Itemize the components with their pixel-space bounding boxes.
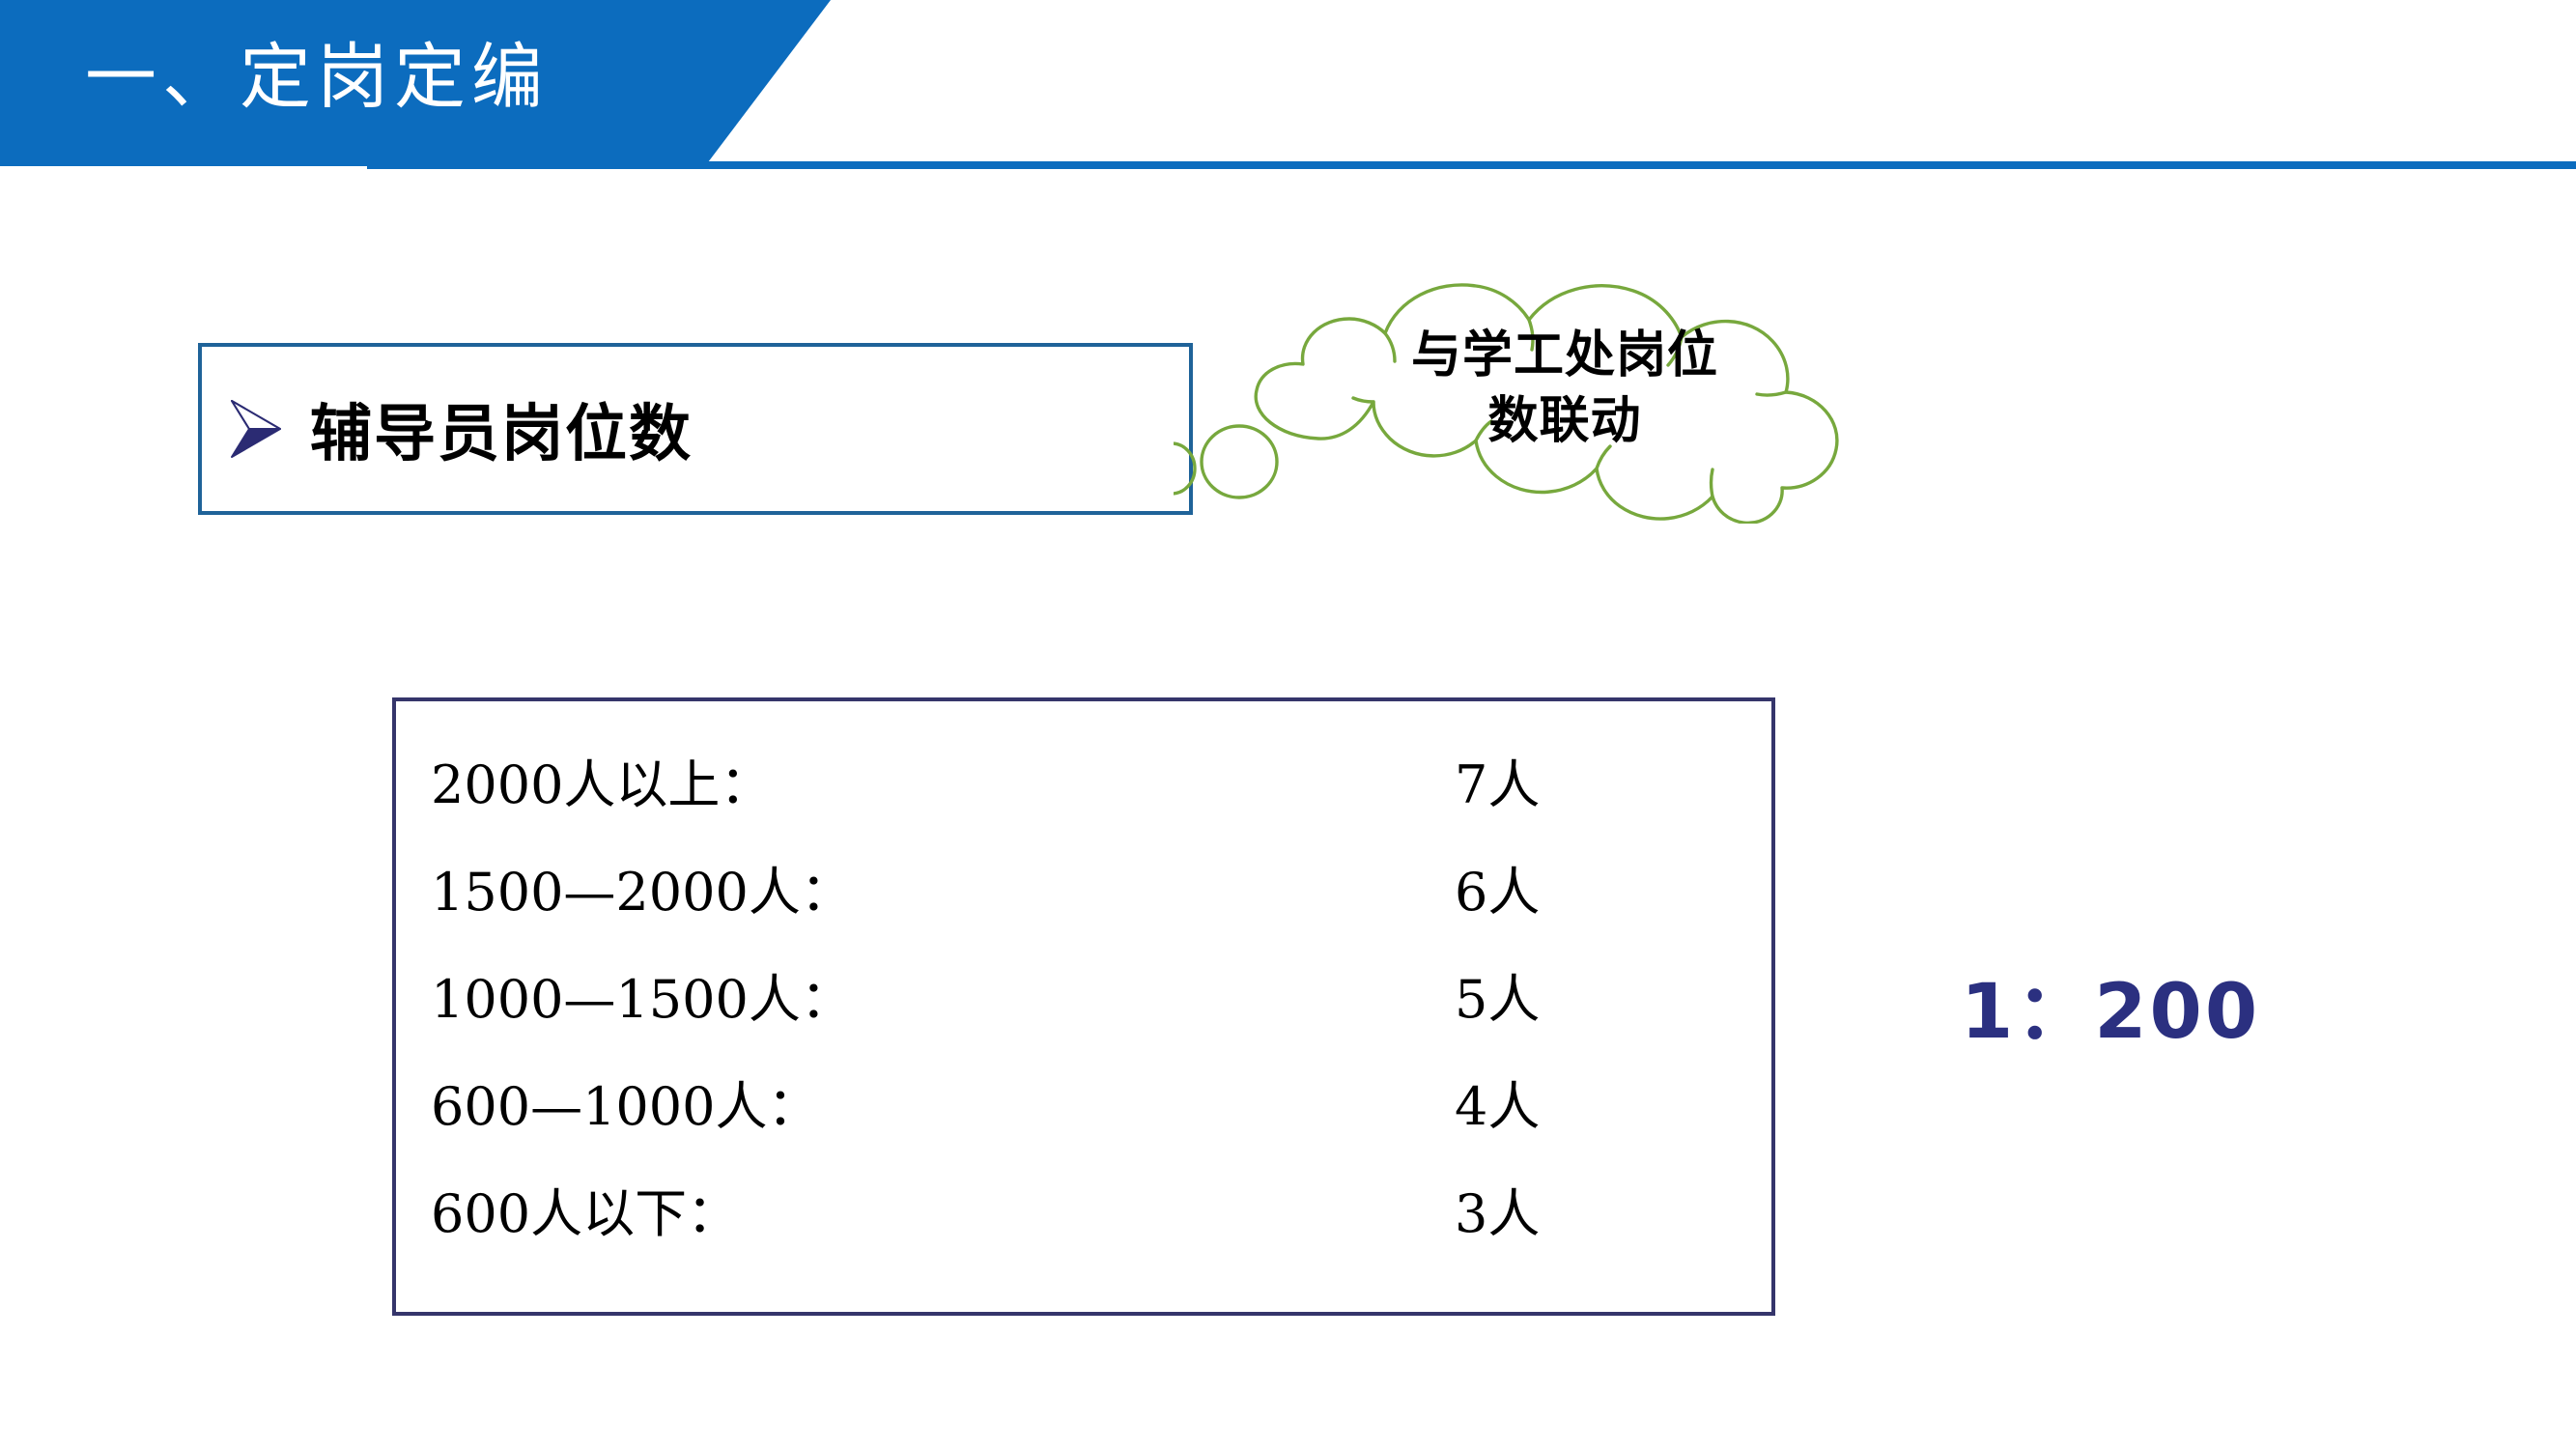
bullet-box-label: 辅导员岗位数 (310, 384, 693, 473)
table-cell-count: 6人 (1455, 849, 1648, 925)
table-cell-count: 5人 (1455, 956, 1648, 1033)
table-cell-count: 7人 (1455, 742, 1648, 818)
cloud-callout-line-1: 与学工处岗位 (1343, 323, 1787, 388)
table-row: 2000人以上： 7人 (431, 742, 1717, 849)
ratio-callout: 1：200 (1961, 952, 2260, 1060)
headcount-table: 2000人以上： 7人 1500—2000人： 6人 1000—1500人： 5… (392, 697, 1775, 1316)
table-cell-range: 2000人以上： (431, 742, 1455, 818)
cloud-callout: 与学工处岗位 数联动 (1174, 272, 1937, 524)
page-title: 一、定岗定编 (85, 27, 761, 128)
slide-canvas: 一、定岗定编 辅导员岗位数 (0, 0, 2576, 1450)
bullet-box[interactable]: 辅导员岗位数 (198, 343, 1193, 515)
table-row: 1500—2000人： 6人 (431, 849, 1717, 956)
table-row: 600人以下： 3人 (431, 1171, 1717, 1278)
table-row: 1000—1500人： 5人 (431, 956, 1717, 1064)
arrow-bullet-icon (227, 395, 285, 463)
table-cell-range: 1000—1500人： (431, 956, 1455, 1033)
table-cell-count: 3人 (1455, 1171, 1648, 1247)
header-rule (367, 161, 2576, 169)
table-row: 600—1000人： 4人 (431, 1064, 1717, 1171)
table-cell-range: 600—1000人： (431, 1064, 1455, 1140)
table-cell-count: 4人 (1455, 1064, 1648, 1140)
table-cell-range: 600人以下： (431, 1171, 1455, 1247)
cloud-callout-text: 与学工处岗位 数联动 (1343, 323, 1787, 454)
cloud-callout-line-2: 数联动 (1343, 388, 1787, 454)
table-cell-range: 1500—2000人： (431, 849, 1455, 925)
